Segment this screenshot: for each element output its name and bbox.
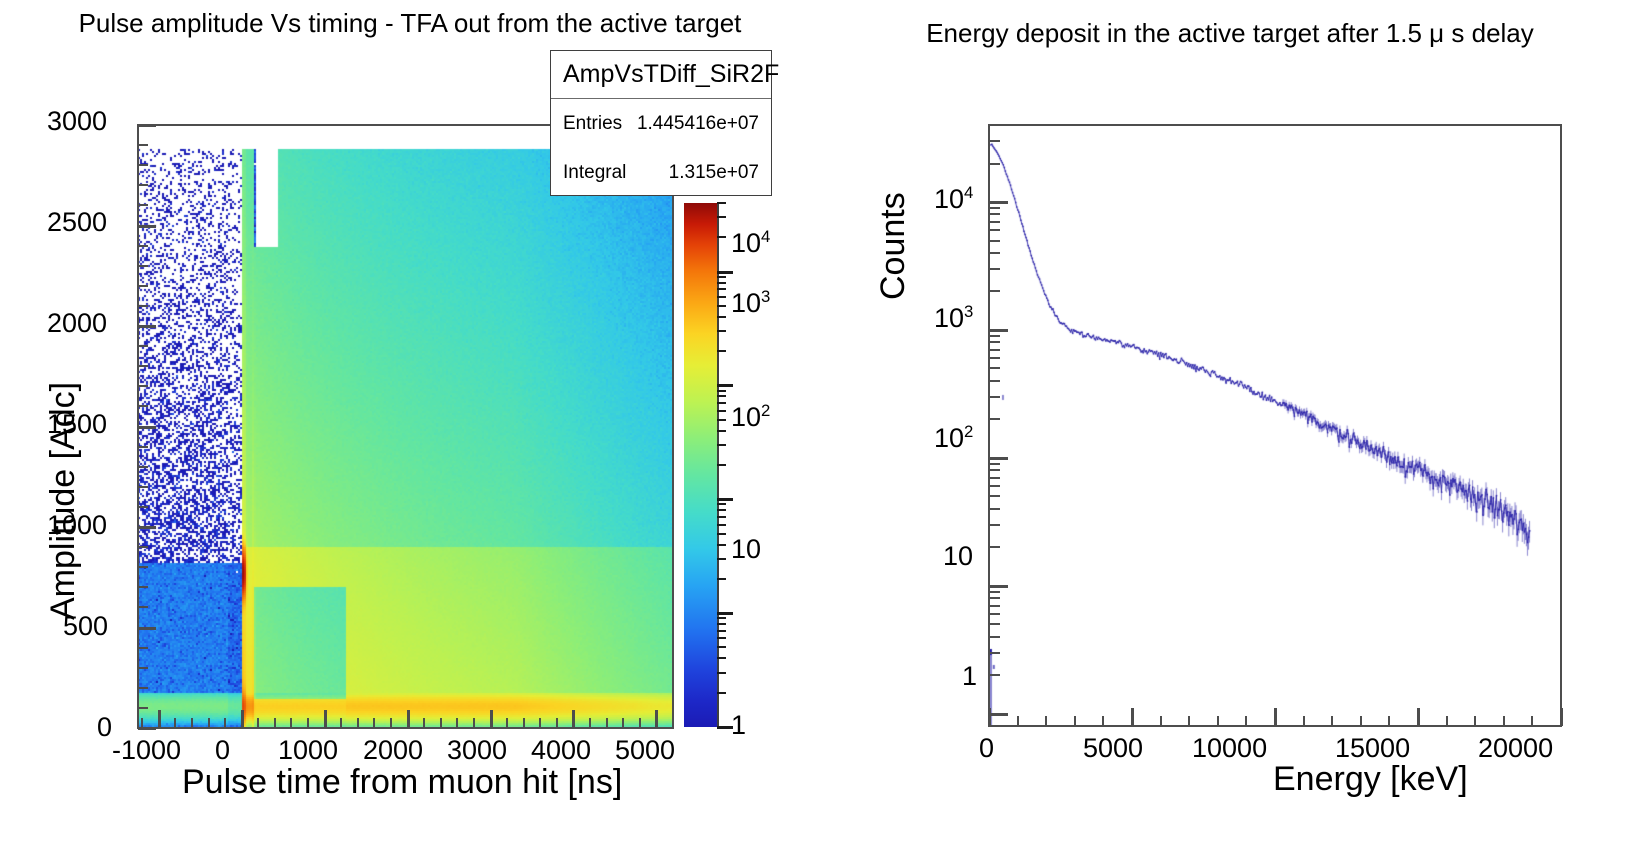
left-y-tick [138,265,148,267]
colorbar-tick-mark [717,202,726,204]
colorbar-tick-mark [717,558,726,560]
right-y-tick [989,349,1000,351]
left-stats-row-entries: Entries 1.445416e+07 [551,99,771,148]
left-x-tick [490,710,493,728]
colorbar-tick-mark [717,524,726,526]
left-x-tick [622,718,624,728]
left-x-tick [324,710,327,728]
left-y-tick [138,426,156,429]
right-y-tick [989,469,1000,471]
right-y-tick [989,201,1008,204]
colorbar-tick-mark [717,692,726,694]
left-y-tick [138,345,148,347]
left-y-tick [138,225,156,228]
left-xtick-2000: 2000 [363,735,423,766]
right-ytick-1000: 103 [934,303,973,334]
left-x-tick [390,718,392,728]
right-y-tick [989,163,1000,165]
colorbar-tick-mark [717,390,726,392]
right-x-tick [1074,716,1076,726]
right-plot-title: Energy deposit in the active target afte… [820,18,1640,49]
left-y-tick [138,285,148,287]
right-x-tick [988,708,991,726]
left-x-tick [423,718,425,728]
left-xtick--1000: -1000 [112,735,181,766]
colorbar-tick-mark [717,305,726,307]
right-y-tick [989,341,1000,343]
left-x-tick [208,718,210,728]
right-xtick-5000: 5000 [1083,733,1143,764]
colorbar-tick-mark [717,612,733,615]
right-y-tick [989,652,1000,654]
colorbar-tick-mark [717,330,726,332]
right-plot-pad: Energy deposit in the active target afte… [820,0,1640,851]
colorbar-tick-mark [717,637,726,639]
left-y-tick [138,325,156,328]
colorbar-tick-mark [717,578,726,580]
colorbar-tick-mark [717,402,726,404]
right-ytick-100: 102 [934,423,973,454]
left-x-tick [473,718,475,728]
colorbar-tick-mark [717,350,726,352]
left-y-tick [138,627,156,630]
left-y-tick [138,124,156,127]
left-y-tick [138,707,148,709]
left-ytick-1500: 1500 [47,409,107,440]
left-x-tick [241,710,244,728]
left-y-tick [138,385,148,387]
right-y-tick [989,597,1000,599]
right-y-tick [989,213,1000,215]
left-stats-entries-value: 1.445416e+07 [637,113,759,135]
colorbar-tick-mark [717,544,726,546]
left-y-tick [138,606,148,608]
right-x-tick [1474,716,1476,726]
right-y-tick [989,290,1000,292]
right-y-tick [989,508,1000,510]
colorbar-tick-mark [717,533,726,535]
right-y-tick [989,457,1008,460]
left-stats-integral-label: Integral [563,162,626,184]
right-y-tick [989,124,1000,126]
colorbar-tick-1000: 103 [731,288,770,319]
left-ytick-2000: 2000 [47,308,107,339]
left-x-tick [373,718,375,728]
left-y-tick [138,164,148,166]
colorbar-tick-mark [717,646,726,648]
right-y-tick [989,240,1000,242]
left-y-tick [138,245,148,247]
left-ytick-0: 0 [97,712,112,743]
left-stats-entries-label: Entries [563,113,622,135]
left-x-tick [224,718,226,728]
left-y-tick [138,647,148,649]
right-x-tick [1102,716,1104,726]
left-y-tick [138,687,148,689]
left-y-tick [138,204,148,206]
left-x-axis-title: Pulse time from muon hit [ns] [182,763,622,802]
colorbar-tick-mark [717,516,726,518]
left-x-tick [340,718,342,728]
right-x-tick [1274,708,1277,726]
right-y-tick [989,591,1000,593]
left-x-tick [440,718,442,728]
left-x-tick [589,718,591,728]
right-y-tick [989,335,1000,337]
right-x-tick [1045,716,1047,726]
left-x-tick [672,718,674,728]
left-ytick-3000: 3000 [47,106,107,137]
right-ytick-10: 10 [943,541,973,572]
left-x-tick [141,718,143,728]
colorbar-tick-mark [717,672,726,674]
left-y-tick [138,546,148,548]
left-x-tick [572,710,575,728]
left-xtick-0: 0 [215,735,230,766]
colorbar-gradient [684,203,717,727]
colorbar-tick-mark [717,509,726,511]
colorbar-tick-mark [717,395,726,397]
right-x-tick [1188,716,1190,726]
right-x-tick [1131,708,1134,726]
colorbar-tick-mark [717,271,733,274]
colorbar-tick-mark [717,623,726,625]
right-y-tick [989,485,1000,487]
colorbar-tick-mark [717,657,726,659]
right-y-tick [989,252,1000,254]
right-y-tick [989,674,1000,676]
right-ytick-10000: 104 [934,184,973,215]
right-ytick-1: 1 [962,661,977,692]
colorbar-tick-mark [717,276,726,278]
colorbar-tick-mark [717,316,726,318]
left-y-tick [138,566,148,568]
left-y-tick [138,466,148,468]
right-y-tick [989,713,1008,716]
right-y-tick [989,463,1000,465]
colorbar-tick-mark [717,503,726,505]
left-x-tick [523,718,525,728]
right-x-tick [1531,716,1533,726]
colorbar-tick-mark [717,444,726,446]
left-y-tick [138,486,148,488]
left-y-tick [138,446,148,448]
colorbar-tick-mark [717,236,726,238]
right-x-tick [1331,716,1333,726]
right-y-tick [989,605,1000,607]
left-y-tick [138,586,148,588]
right-x-tick [1245,716,1247,726]
left-stats-row-integral: Integral 1.315e+07 [551,148,771,197]
right-y-axis-title: Counts [874,192,913,300]
left-x-tick [556,718,558,728]
colorbar-tick-mark [717,216,726,218]
left-y-tick [138,184,148,186]
colorbar-tick-1: 1 [731,710,746,741]
right-x-tick [1417,708,1420,726]
colorbar-tick-mark [717,630,726,632]
colorbar-tick-mark [717,410,726,412]
left-ytick-2500: 2500 [47,207,107,238]
colorbar-tick-mark [717,617,726,619]
right-x-tick [1560,708,1563,726]
colorbar-tick-mark [717,282,726,284]
left-x-tick [257,718,259,728]
left-xtick-5000: 5000 [615,735,675,766]
colorbar-tick-mark [717,430,726,432]
colorbar-tick-mark [717,498,733,501]
colorbar-tick-10000: 104 [731,228,770,259]
left-xtick-4000: 4000 [531,735,591,766]
left-stats-box[interactable]: AmpVsTDiff_SiR2F Entries 1.445416e+07 In… [550,50,772,196]
left-y-tick [138,405,148,407]
colorbar-tick-100: 102 [731,402,770,433]
right-y-tick [989,418,1000,420]
figure-canvas: Pulse amplitude Vs timing - TFA out from… [0,0,1640,851]
left-stats-name: AmpVsTDiff_SiR2F [551,51,771,99]
left-y-tick [138,506,148,508]
left-ytick-500: 500 [63,611,108,642]
right-x-axis-title: Energy [keV] [1273,760,1468,799]
right-y-tick [989,613,1000,615]
right-x-tick [1446,716,1448,726]
right-y-tick [989,396,1000,398]
left-y-tick [138,144,148,146]
right-plot-frame [988,124,1562,727]
colorbar-tick-mark [717,296,726,298]
left-x-tick [307,718,309,728]
left-x-tick [456,718,458,728]
right-y-tick [989,546,1000,548]
right-xtick-10000: 10000 [1192,733,1267,764]
right-xtick-20000: 20000 [1478,733,1553,764]
right-x-tick [1160,716,1162,726]
right-y-tick [989,623,1000,625]
right-y-tick [989,477,1000,479]
right-x-tick [1388,716,1390,726]
left-x-tick [407,710,410,728]
right-y-tick [989,268,1000,270]
right-y-tick [989,524,1000,526]
left-x-tick [655,710,658,728]
left-plot-frame [137,124,674,729]
right-y-tick [989,367,1000,369]
left-x-tick [539,718,541,728]
left-x-tick [357,718,359,728]
right-x-tick [1217,716,1219,726]
colorbar-tick-mark [717,464,726,466]
left-x-tick [191,718,193,728]
right-y-tick [989,329,1008,332]
right-y-tick [989,636,1000,638]
colorbar-tick-mark [717,419,726,421]
colorbar-tick-10: 10 [731,534,761,565]
left-stats-integral-value: 1.315e+07 [669,162,759,184]
left-y-tick [138,305,148,307]
right-x-tick [1360,716,1362,726]
right-y-tick [989,207,1000,209]
right-x-tick [1017,716,1019,726]
right-y-tick [989,221,1000,223]
left-x-tick [639,718,641,728]
right-x-tick [1303,716,1305,726]
left-x-tick [290,718,292,728]
right-y-tick [989,495,1000,497]
colorbar-tick-mark [717,288,726,290]
left-y-tick [138,526,156,529]
colorbar-tick-mark [717,384,733,387]
right-xtick-0: 0 [979,733,994,764]
left-x-tick [158,710,161,728]
right-y-tick [989,380,1000,382]
right-x-tick [1503,716,1505,726]
left-plot-title: Pulse amplitude Vs timing - TFA out from… [0,8,820,39]
right-y-tick [989,140,1000,142]
right-y-tick [989,585,1008,588]
left-x-tick [274,718,276,728]
colorbar-tick-mark [717,726,733,729]
right-y-tick [989,229,1000,231]
left-xtick-3000: 3000 [447,735,507,766]
left-ytick-1000: 1000 [47,510,107,541]
right-y-tick [989,357,1000,359]
left-x-tick [174,718,176,728]
left-x-tick [606,718,608,728]
left-y-tick [138,667,148,669]
left-xtick-1000: 1000 [278,735,338,766]
left-x-tick [506,718,508,728]
left-y-tick [138,365,148,367]
left-plot-pad: Pulse amplitude Vs timing - TFA out from… [0,0,820,851]
